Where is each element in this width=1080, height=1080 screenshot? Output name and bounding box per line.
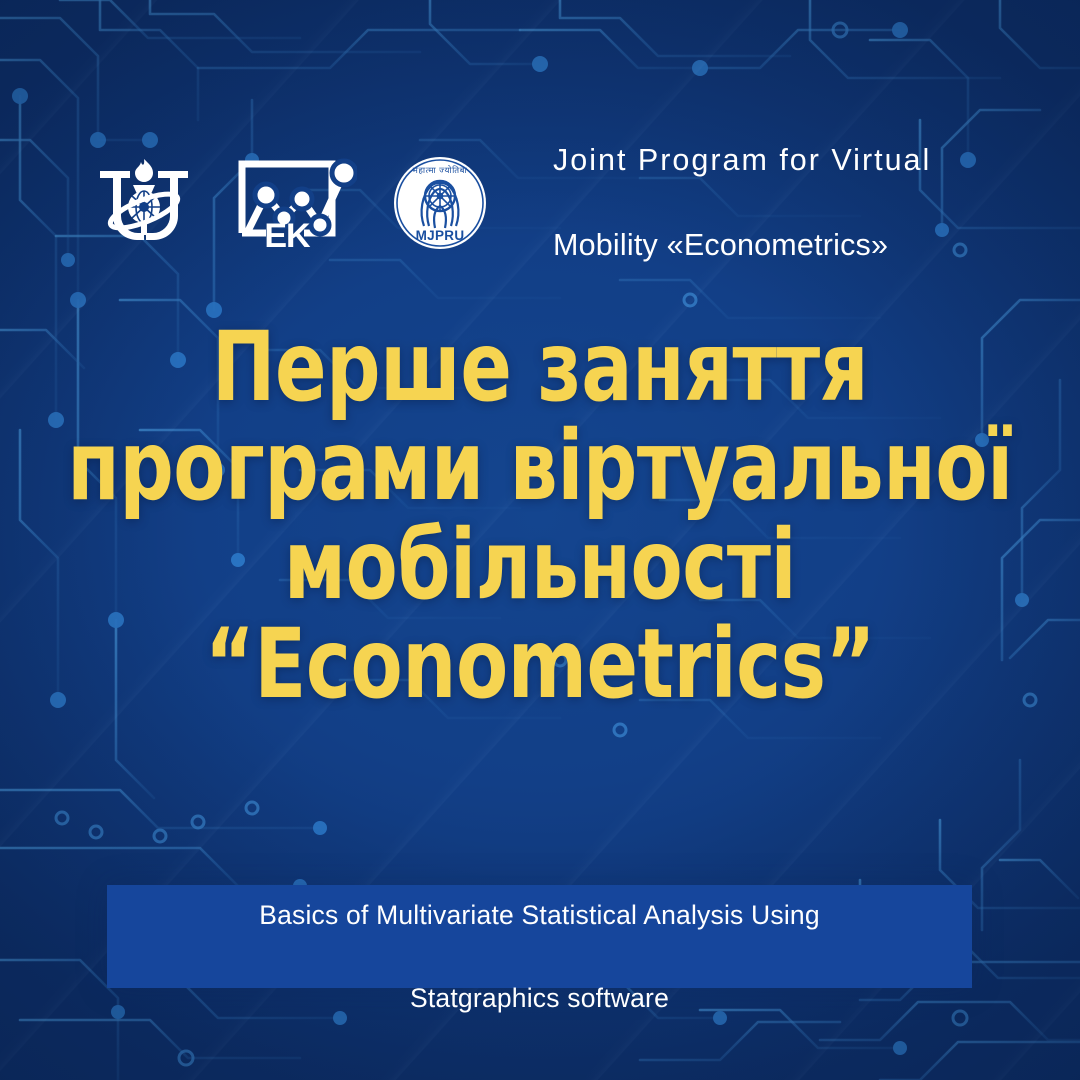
poster-header: EK महात्मा ज्योतिबा: [92, 96, 1010, 309]
subtitle-text: Basics of Multivariate Statistical Analy…: [233, 854, 846, 1018]
poster-canvas: EK महात्मा ज्योतिबा: [0, 0, 1080, 1080]
main-title-line4: “Econometrics”: [65, 615, 1015, 714]
svg-text:MJPRU: MJPRU: [416, 228, 465, 243]
logo-group: EK महात्मा ज्योतिबा: [92, 155, 487, 251]
ek-chart-logo: EK: [232, 155, 357, 251]
program-title-line1: Joint Program for Virtual: [553, 139, 931, 182]
subtitle-line1: Basics of Multivariate Statistical Analy…: [259, 900, 820, 930]
svg-text:EK: EK: [264, 217, 311, 251]
svg-text:महात्मा ज्योतिबा: महात्मा ज्योतिबा: [413, 165, 468, 175]
main-title-line1: Перше заняття: [65, 318, 1015, 417]
subtitle-banner: Basics of Multivariate Statistical Analy…: [107, 885, 972, 988]
usurt-torch-globe-logo: [92, 155, 196, 251]
subtitle-line2: Statgraphics software: [410, 983, 669, 1013]
mjpru-seal-logo: महात्मा ज्योतिबा: [393, 156, 487, 250]
main-title-line2: програми віртуальної: [65, 417, 1015, 516]
main-title: Перше заняття програми віртуальної мобіл…: [65, 318, 1015, 714]
program-title: Joint Program for Virtual Mobility «Econ…: [553, 96, 931, 309]
program-title-line2: Mobility «Econometrics»: [553, 224, 931, 267]
main-title-line3: мобільності: [65, 516, 1015, 615]
